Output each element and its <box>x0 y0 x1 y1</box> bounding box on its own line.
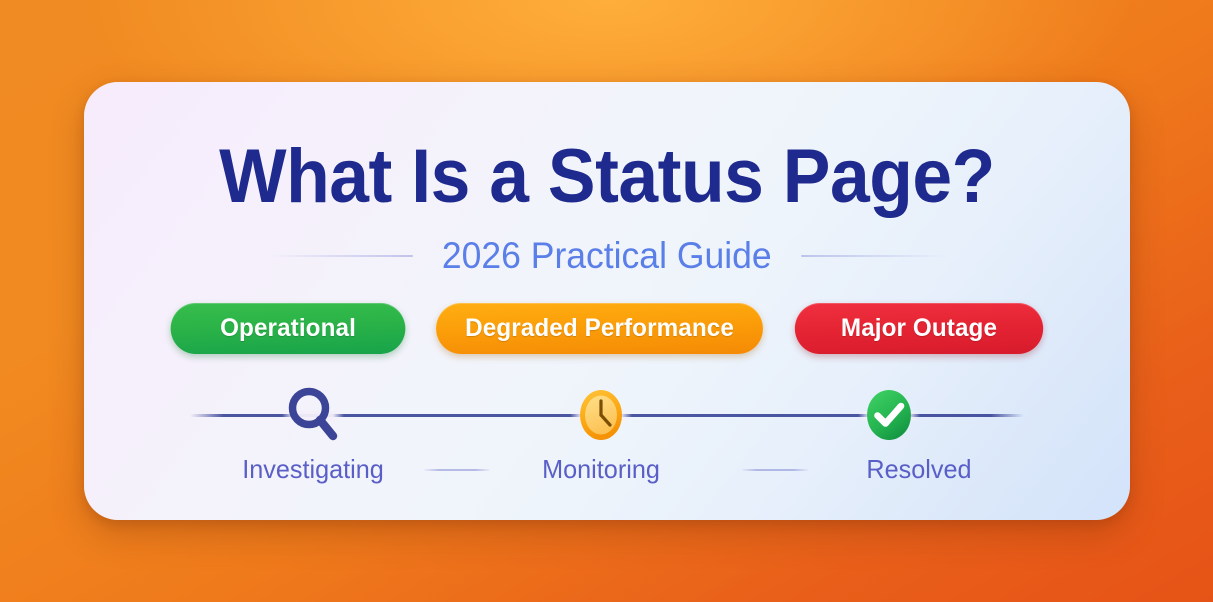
check-circle-icon <box>857 382 921 448</box>
timeline-stage-investigating[interactable] <box>208 382 418 448</box>
subtitle-rule-left <box>265 255 413 257</box>
incident-timeline: Investigating Monitoring Resolved <box>190 382 1024 492</box>
timeline-labels: Investigating Monitoring Resolved <box>190 454 1024 485</box>
page-title: What Is a Status Page? <box>115 134 1098 220</box>
status-page-card: What Is a Status Page? 2026 Practical Gu… <box>84 82 1130 520</box>
status-pill-degraded-performance[interactable]: Degraded Performance <box>436 303 763 354</box>
status-pill-operational-label: Operational <box>221 314 357 343</box>
status-pill-major-outage-label: Major Outage <box>840 314 996 343</box>
subtitle-row: 2026 Practical Guide <box>84 234 1130 278</box>
timeline-nodes <box>190 382 1024 452</box>
timeline-label-rule-2 <box>742 469 808 471</box>
page-subtitle: 2026 Practical Guide <box>442 235 772 277</box>
status-pill-major-outage[interactable]: Major Outage <box>794 303 1042 354</box>
timeline-label-monitoring: Monitoring <box>499 454 703 485</box>
poster-canvas: What Is a Status Page? 2026 Practical Gu… <box>0 0 1213 602</box>
status-pill-degraded-performance-label: Degraded Performance <box>466 314 735 343</box>
status-pill-group: Operational Degraded Performance Major O… <box>84 303 1130 354</box>
timeline-stage-monitoring[interactable] <box>496 382 706 448</box>
status-pill-operational[interactable]: Operational <box>171 303 406 354</box>
magnifier-icon <box>281 382 345 448</box>
clock-icon <box>569 382 633 448</box>
subtitle-rule-right <box>801 255 949 257</box>
timeline-label-investigating: Investigating <box>211 454 415 485</box>
timeline-label-resolved: Resolved <box>817 454 1021 485</box>
timeline-label-rule-1 <box>424 469 490 471</box>
timeline-stage-resolved[interactable] <box>784 382 994 448</box>
